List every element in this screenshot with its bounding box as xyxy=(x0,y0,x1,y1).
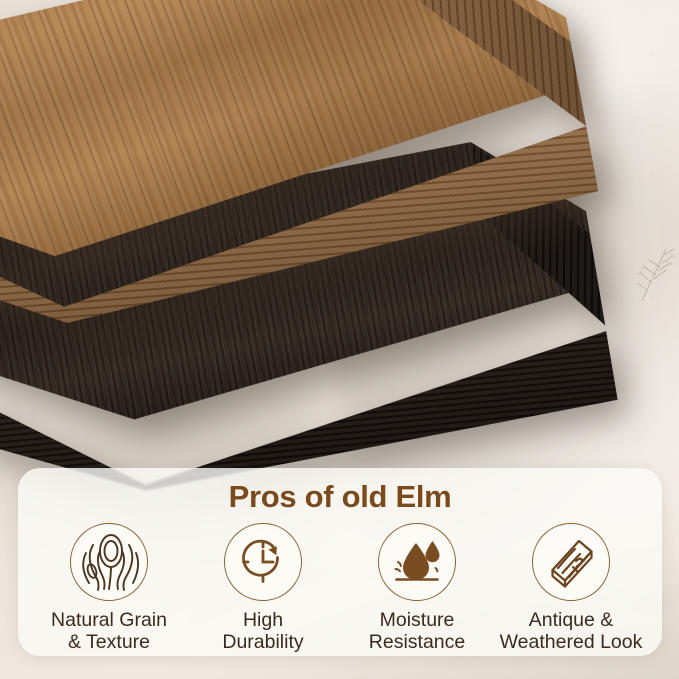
pros-info-card: Pros of old Elm xyxy=(18,468,662,656)
card-title: Pros of old Elm xyxy=(229,480,452,514)
dried-sprig-icon xyxy=(636,243,679,303)
clock-arrow-icon xyxy=(238,537,288,587)
feature-moisture-resistance: Moisture Resistance xyxy=(340,523,494,654)
feature-high-durability: High Durability xyxy=(186,523,340,654)
wood-grain-icon xyxy=(78,531,140,593)
feature-natural-grain: Natural Grain & Texture xyxy=(32,523,186,654)
product-image: Pros of old Elm xyxy=(0,0,679,679)
wood-plank-icon xyxy=(543,534,599,590)
feature-label-antique-weathered: Antique & Weathered Look xyxy=(500,610,643,654)
wood-grain-icon-badge xyxy=(70,523,148,601)
water-droplet-icon xyxy=(390,535,444,589)
wood-plank-icon-badge xyxy=(532,523,610,601)
feature-label-natural-grain: Natural Grain & Texture xyxy=(51,610,167,654)
feature-list: Natural Grain & Texture xyxy=(18,523,662,654)
feature-antique-weathered: Antique & Weathered Look xyxy=(494,523,648,654)
water-droplet-icon-badge xyxy=(378,523,456,601)
feature-label-high-durability: High Durability xyxy=(222,610,303,654)
clock-arrow-icon-badge xyxy=(224,523,302,601)
feature-label-moisture-resistance: Moisture Resistance xyxy=(369,610,465,654)
